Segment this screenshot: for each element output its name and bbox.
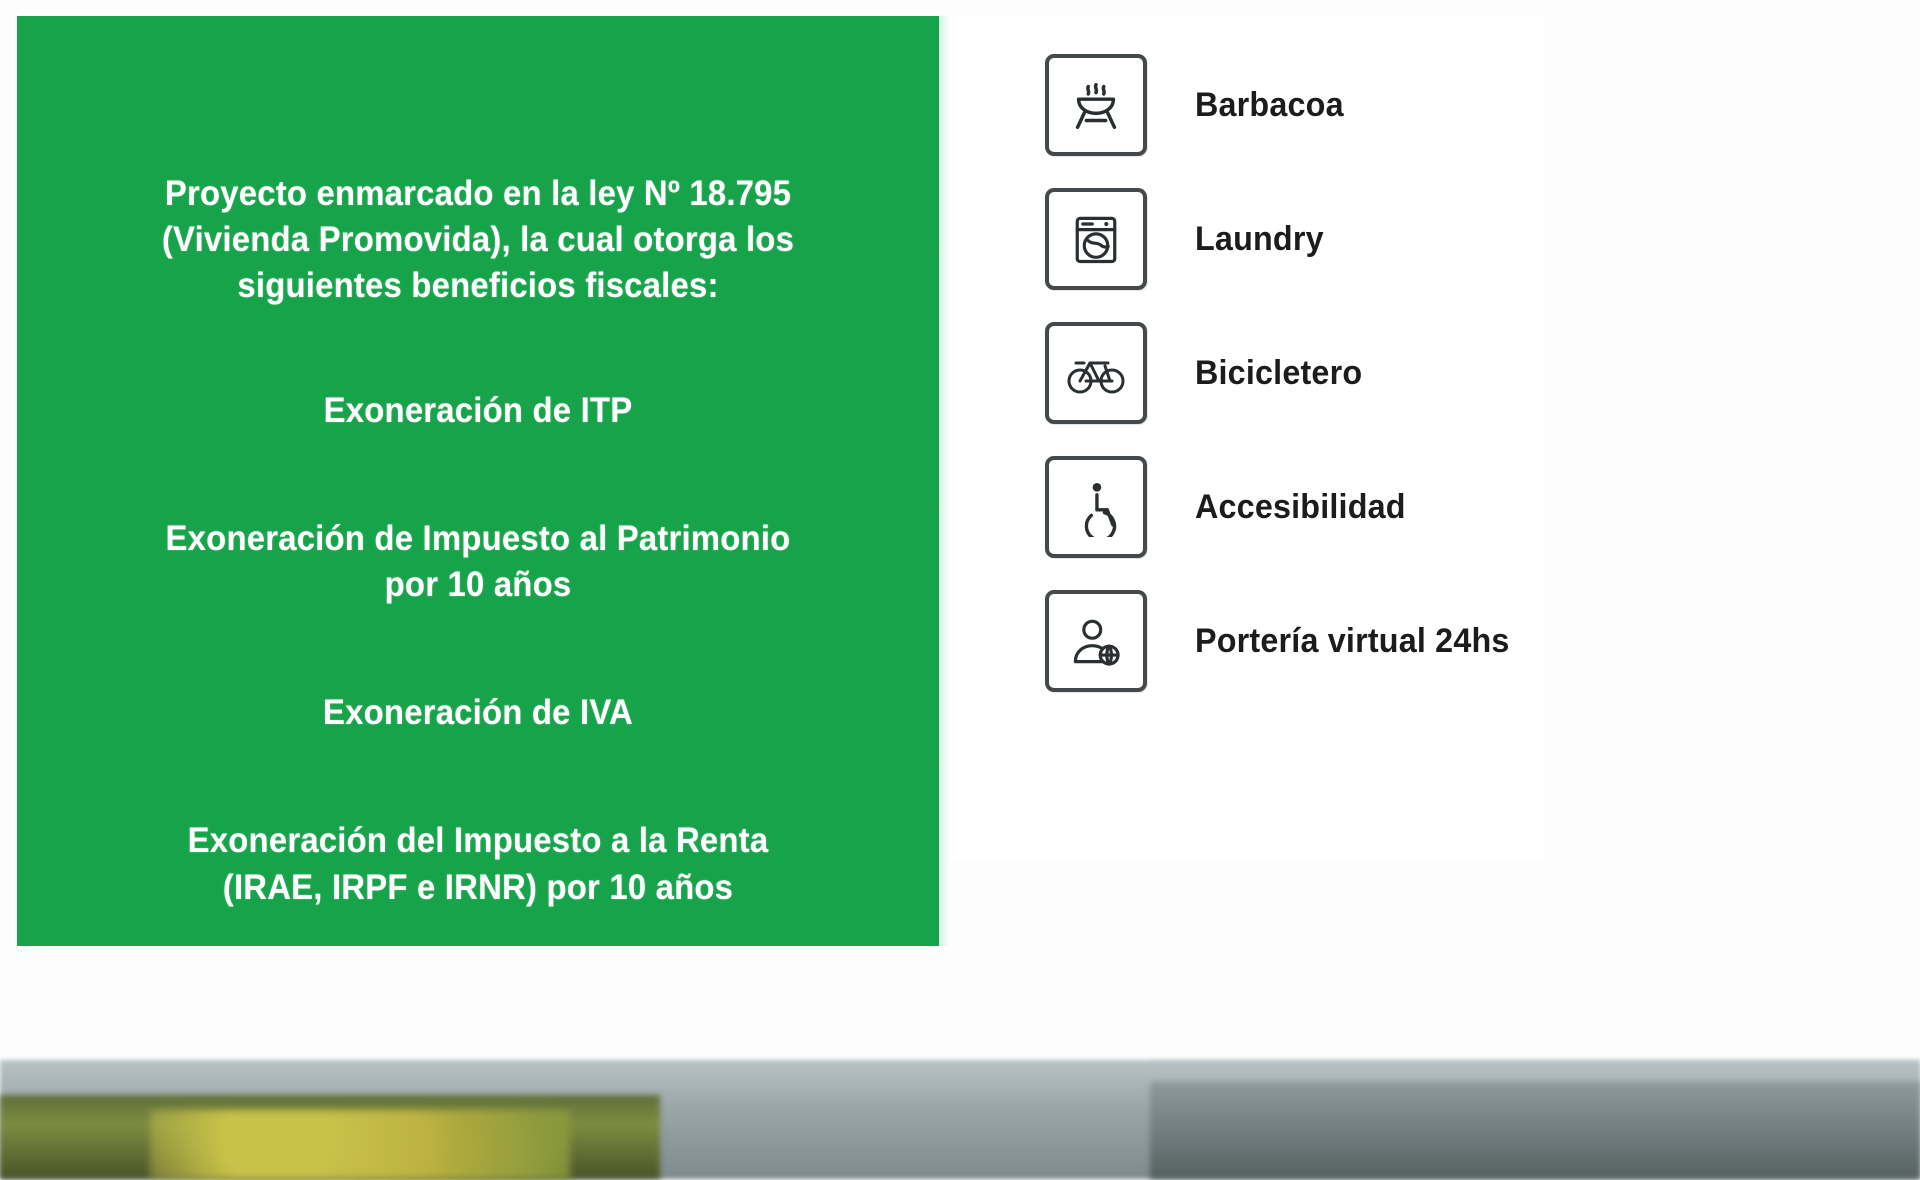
benefit-item-renta-line-1: Exoneración del Impuesto a la Renta (111, 818, 844, 864)
benefits-intro-line-3: siguientes beneficios fiscales: (111, 263, 844, 309)
benefit-item-itp-line-1: Exoneración de ITP (111, 388, 844, 434)
benefit-item-iva: Exoneración de IVA (111, 690, 844, 736)
benefits-intro-line-1: Proyecto enmarcado en la ley Nº 18.795 (111, 171, 844, 217)
benefits-intro-text: Proyecto enmarcado en la ley Nº 18.795 (… (111, 171, 844, 310)
amenity-row-accesibilidad: Accesibilidad (950, 440, 1545, 574)
bicycle-icon (1045, 322, 1147, 424)
amenity-label-laundry: Laundry (1195, 220, 1324, 259)
barbecue-grill-icon (1045, 54, 1147, 156)
amenity-label-barbacoa: Barbacoa (1195, 86, 1344, 125)
amenities-panel: Barbacoa Laundry (950, 16, 1545, 861)
wheelchair-accessibility-icon (1045, 456, 1147, 558)
amenity-row-porteria-virtual: Portería virtual 24hs (950, 574, 1545, 708)
benefit-item-renta-line-2: (IRAE, IRPF e IRNR) por 10 años (111, 865, 844, 911)
washing-machine-icon (1045, 188, 1147, 290)
virtual-concierge-icon (1045, 590, 1147, 692)
tax-benefits-panel: Proyecto enmarcado en la ley Nº 18.795 (… (17, 16, 939, 946)
background-photo-building (1150, 1082, 1920, 1179)
slide-canvas: Proyecto enmarcado en la ley Nº 18.795 (… (0, 0, 1920, 1179)
amenity-label-porteria-virtual: Portería virtual 24hs (1195, 622, 1510, 661)
benefit-item-itp: Exoneración de ITP (111, 388, 844, 434)
benefit-item-patrimonio-line-1: Exoneración de Impuesto al Patrimonio (111, 516, 844, 562)
benefit-item-patrimonio-line-2: por 10 años (111, 562, 844, 608)
benefit-item-iva-line-1: Exoneración de IVA (111, 690, 844, 736)
amenity-label-bicicletero: Bicicletero (1195, 354, 1362, 393)
benefit-item-patrimonio: Exoneración de Impuesto al Patrimonio po… (111, 516, 844, 608)
amenity-label-accesibilidad: Accesibilidad (1195, 488, 1406, 527)
benefits-intro-line-2: (Vivienda Promovida), la cual otorga los (111, 217, 844, 263)
amenity-row-barbacoa: Barbacoa (950, 38, 1545, 172)
benefit-item-renta: Exoneración del Impuesto a la Renta (IRA… (111, 818, 844, 910)
amenity-row-laundry: Laundry (950, 172, 1545, 306)
background-photo-foliage (150, 1110, 570, 1180)
amenity-row-bicicletero: Bicicletero (950, 306, 1545, 440)
